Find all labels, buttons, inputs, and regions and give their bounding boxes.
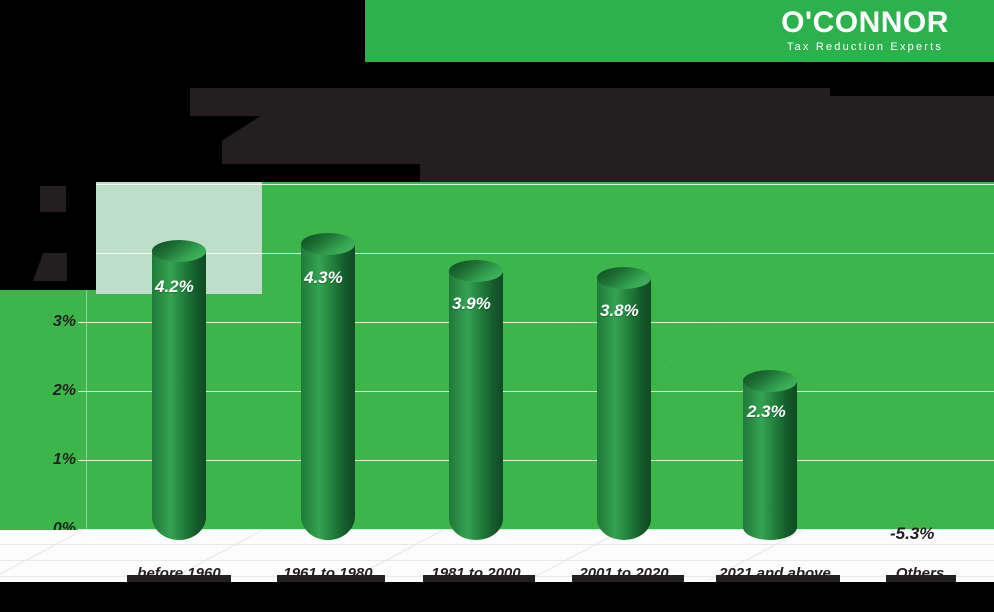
gridline-3 xyxy=(78,322,994,323)
brand-tagline: Tax Reduction Experts xyxy=(765,40,965,54)
bar-top-2001-2020 xyxy=(597,267,651,289)
chart-title-occlusion xyxy=(620,96,994,182)
header-banner: O'CONNOR Tax Reduction Experts xyxy=(365,0,994,62)
y-tick-2: 2% xyxy=(30,383,76,399)
gridline-2 xyxy=(78,391,994,392)
bar-top-1981-2000 xyxy=(449,260,503,282)
brand-logo: O'CONNOR Tax Reduction Experts xyxy=(765,8,965,56)
brand-logo-name: O'CONNOR xyxy=(765,8,965,38)
bar-value-2001-2020: 3.8% xyxy=(600,301,639,321)
bar-value-others: -5.3% xyxy=(890,524,934,544)
bar-value-1981-2000: 3.9% xyxy=(452,294,491,314)
bottom-occlusion xyxy=(0,582,994,612)
floor-perspective-1 xyxy=(0,530,121,581)
gridline-1 xyxy=(78,460,994,461)
floor-line-2 xyxy=(0,560,994,561)
bar-top-2021-and-above xyxy=(743,370,797,392)
bar-value-2021-and-above: 2.3% xyxy=(747,402,786,422)
gridline-4 xyxy=(78,253,994,254)
bar-value-before-1960: 4.2% xyxy=(155,277,194,297)
bar-top-before-1960 xyxy=(152,240,206,262)
bar-value-1961-1980: 4.3% xyxy=(304,268,343,288)
y-tick-3: 3% xyxy=(30,314,76,330)
bar-top-1961-1980 xyxy=(301,233,355,255)
bar-1961-1980[interactable] xyxy=(301,244,355,540)
floor-line-1 xyxy=(0,544,994,545)
y-tick-1: 1% xyxy=(30,452,76,468)
y-tick-5-mask xyxy=(40,186,66,212)
chart-screenshot: O'CONNOR Tax Reduction Experts 5% 4% 3% … xyxy=(0,0,994,612)
gridline-5 xyxy=(78,184,994,185)
